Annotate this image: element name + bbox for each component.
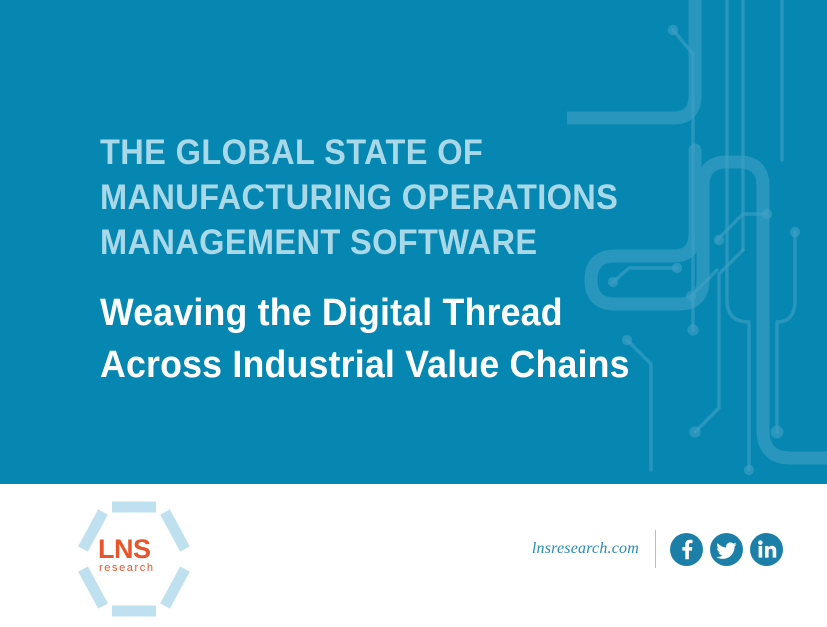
linkedin-icon — [750, 533, 783, 566]
title-line-3: MANAGEMENT SOFTWARE — [100, 223, 537, 262]
linkedin-link[interactable] — [750, 533, 783, 566]
twitter-link[interactable] — [710, 533, 743, 566]
twitter-icon — [710, 533, 743, 566]
title-line-2: MANUFACTURING OPERATIONS — [100, 178, 618, 217]
page-title: THE GLOBAL STATE OF MANUFACTURING OPERAT… — [100, 130, 639, 265]
footer-links: lnsresearch.com — [532, 530, 783, 568]
logo-research-text: research — [98, 562, 178, 574]
hero-banner: THE GLOBAL STATE OF MANUFACTURING OPERAT… — [0, 0, 827, 484]
vertical-divider — [655, 530, 656, 568]
social-links — [670, 533, 783, 566]
logo-lns-text: LNS — [98, 536, 178, 562]
subtitle-line-2: Across Industrial Value Chains — [100, 344, 630, 386]
subtitle-line-1: Weaving the Digital Thread — [100, 292, 563, 334]
title-block: THE GLOBAL STATE OF MANUFACTURING OPERAT… — [100, 130, 680, 391]
facebook-link[interactable] — [670, 533, 703, 566]
lns-research-logo[interactable]: LNS research — [72, 498, 196, 620]
facebook-icon — [670, 533, 703, 566]
title-line-1: THE GLOBAL STATE OF — [100, 133, 483, 172]
page-subtitle: Weaving the Digital Thread Across Indust… — [100, 265, 645, 391]
website-url[interactable]: lnsresearch.com — [532, 540, 639, 558]
logo-wordmark: LNS research — [98, 536, 178, 574]
report-cover-page: THE GLOBAL STATE OF MANUFACTURING OPERAT… — [0, 0, 827, 627]
footer-bar: LNS research lnsresearch.com — [0, 484, 827, 627]
